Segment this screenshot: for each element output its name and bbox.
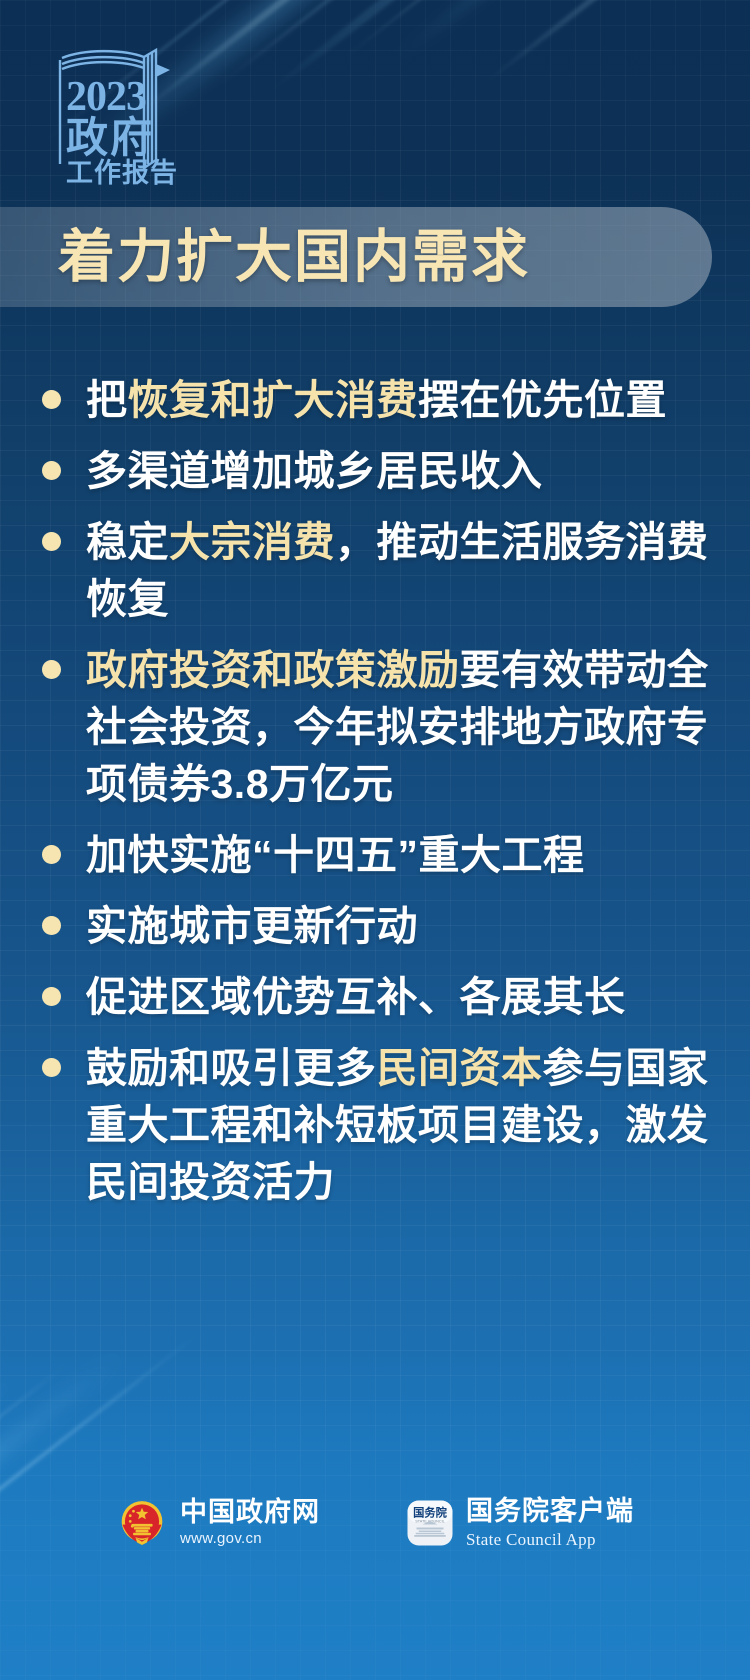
brand-subtitle: State Council App [466, 1529, 634, 1550]
poster-root: 2023 政府 工作报告 着力扩大国内需求 把恢复和扩大消费摆在优先位置多渠道增… [0, 0, 750, 1680]
svg-text:国务院: 国务院 [413, 1505, 448, 1519]
footer: 中国政府网 www.gov.cn 国务院 STATE COUNCIL 国务院 [0, 1496, 750, 1550]
bullet-dot-icon [42, 461, 61, 480]
list-item: 政府投资和政策激励要有效带动全社会投资，今年拟安排地方政府专项债券3.8万亿元 [0, 642, 750, 813]
policy-list: 把恢复和扩大消费摆在优先位置多渠道增加城乡居民收入稳定大宗消费，推动生活服务消费… [0, 372, 750, 1225]
highlighted-text: 大宗消费 [169, 519, 335, 565]
list-item: 加快实施“十四五”重大工程 [0, 827, 750, 884]
list-item: 多渠道增加城乡居民收入 [0, 443, 750, 500]
book-icon: 2023 政府 工作报告 [44, 40, 194, 185]
bullet-dot-icon [42, 532, 61, 551]
list-item: 鼓励和吸引更多民间资本参与国家重大工程和补短板项目建设，激发民间投资活力 [0, 1040, 750, 1211]
list-item-text: 稳定大宗消费，推动生活服务消费恢复 [86, 514, 726, 628]
plain-text: 实施城市更新行动 [86, 903, 418, 949]
brand-subtitle: www.gov.cn [180, 1530, 320, 1549]
brand-name: 中国政府网 [180, 1497, 320, 1527]
list-item: 稳定大宗消费，推动生活服务消费恢复 [0, 514, 750, 628]
list-item-text: 鼓励和吸引更多民间资本参与国家重大工程和补短板项目建设，激发民间投资活力 [86, 1040, 726, 1211]
bullet-dot-icon [42, 390, 61, 409]
list-item-text: 实施城市更新行动 [86, 898, 726, 955]
plain-text: 鼓励和吸引更多 [86, 1045, 377, 1091]
brand-state-council-app[interactable]: 国务院 STATE COUNCIL 国务院客户端 State Council A… [406, 1496, 634, 1550]
plain-text: 促进区域优势互补、各展其长 [86, 974, 626, 1020]
plain-text: 摆在优先位置 [418, 377, 667, 423]
highlighted-text: 民间资本 [377, 1045, 543, 1091]
title-banner: 着力扩大国内需求 [0, 207, 712, 307]
state-council-app-icon: 国务院 STATE COUNCIL [406, 1499, 454, 1547]
list-item-text: 多渠道增加城乡居民收入 [86, 443, 726, 500]
highlighted-text: 政府投资和政策激励 [86, 647, 460, 693]
list-item-text: 政府投资和政策激励要有效带动全社会投资，今年拟安排地方政府专项债券3.8万亿元 [86, 642, 726, 813]
brand-gov-cn[interactable]: 中国政府网 www.gov.cn [116, 1497, 320, 1549]
logo-line3: 工作报告 [66, 158, 178, 185]
plain-text: 稳定 [86, 519, 169, 565]
list-item-text: 促进区域优势互补、各展其长 [86, 969, 726, 1026]
bullet-dot-icon [42, 1058, 61, 1077]
plain-text: 多渠道增加城乡居民收入 [86, 448, 543, 494]
national-emblem-icon [116, 1497, 168, 1549]
list-item: 促进区域优势互补、各展其长 [0, 969, 750, 1026]
list-item-text: 把恢复和扩大消费摆在优先位置 [86, 372, 726, 429]
plain-text: 加快实施“十四五”重大工程 [86, 832, 585, 878]
logo-line2: 政府 [66, 114, 154, 161]
bullet-dot-icon [42, 916, 61, 935]
brand-name: 国务院客户端 [466, 1496, 634, 1526]
bullet-dot-icon [42, 660, 61, 679]
plain-text: 把 [86, 377, 128, 423]
list-item-text: 加快实施“十四五”重大工程 [86, 827, 726, 884]
highlighted-text: 恢复和扩大消费 [128, 377, 419, 423]
bullet-dot-icon [42, 845, 61, 864]
list-item: 实施城市更新行动 [0, 898, 750, 955]
report-logo: 2023 政府 工作报告 [44, 40, 194, 185]
page-title: 着力扩大国内需求 [58, 229, 530, 286]
list-item: 把恢复和扩大消费摆在优先位置 [0, 372, 750, 429]
bullet-dot-icon [42, 987, 61, 1006]
